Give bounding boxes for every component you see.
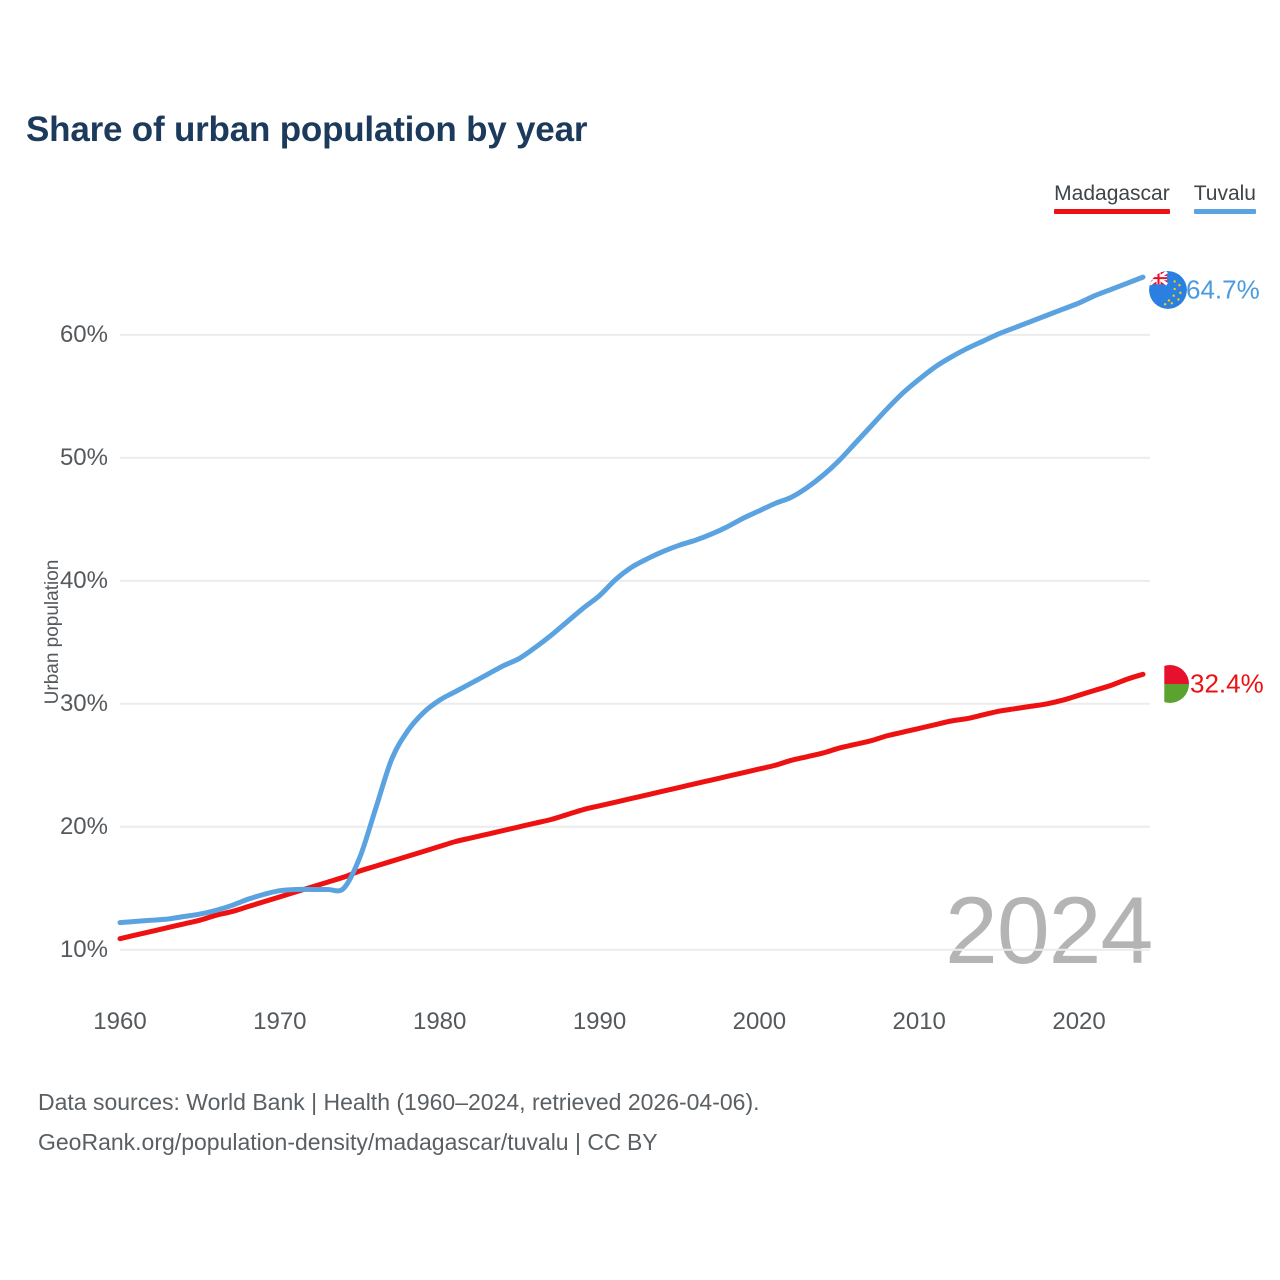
y-axis-title: Urban population [42, 560, 64, 705]
y-tick-label: 50% [18, 444, 108, 472]
chart-page: Share of urban population by year Madaga… [0, 0, 1280, 1280]
footer-data-sources: Data sources: World Bank | Health (1960–… [38, 1089, 760, 1116]
series-line-madagascar [120, 674, 1143, 938]
x-tick-label: 1980 [380, 1008, 500, 1036]
madagascar-flag-icon [1151, 665, 1189, 703]
y-tick-label: 20% [18, 813, 108, 841]
y-tick-label: 10% [18, 936, 108, 964]
x-tick-label: 2010 [859, 1008, 979, 1036]
tuvalu-flag-icon [1149, 271, 1187, 309]
footer-attribution: GeoRank.org/population-density/madagasca… [38, 1129, 658, 1156]
x-tick-label: 1990 [540, 1008, 660, 1036]
end-value-label-madagascar: 32.4% [1190, 669, 1264, 700]
line-chart-plot [0, 0, 1280, 1280]
x-tick-label: 1970 [220, 1008, 340, 1036]
y-axis-title-wrap: Urban population [40, 512, 66, 752]
x-tick-label: 2000 [699, 1008, 819, 1036]
x-tick-label: 2020 [1019, 1008, 1139, 1036]
x-tick-label: 1960 [60, 1008, 180, 1036]
y-tick-label: 60% [18, 321, 108, 349]
gridlines [120, 335, 1150, 950]
end-value-label-tuvalu: 64.7% [1186, 275, 1260, 306]
